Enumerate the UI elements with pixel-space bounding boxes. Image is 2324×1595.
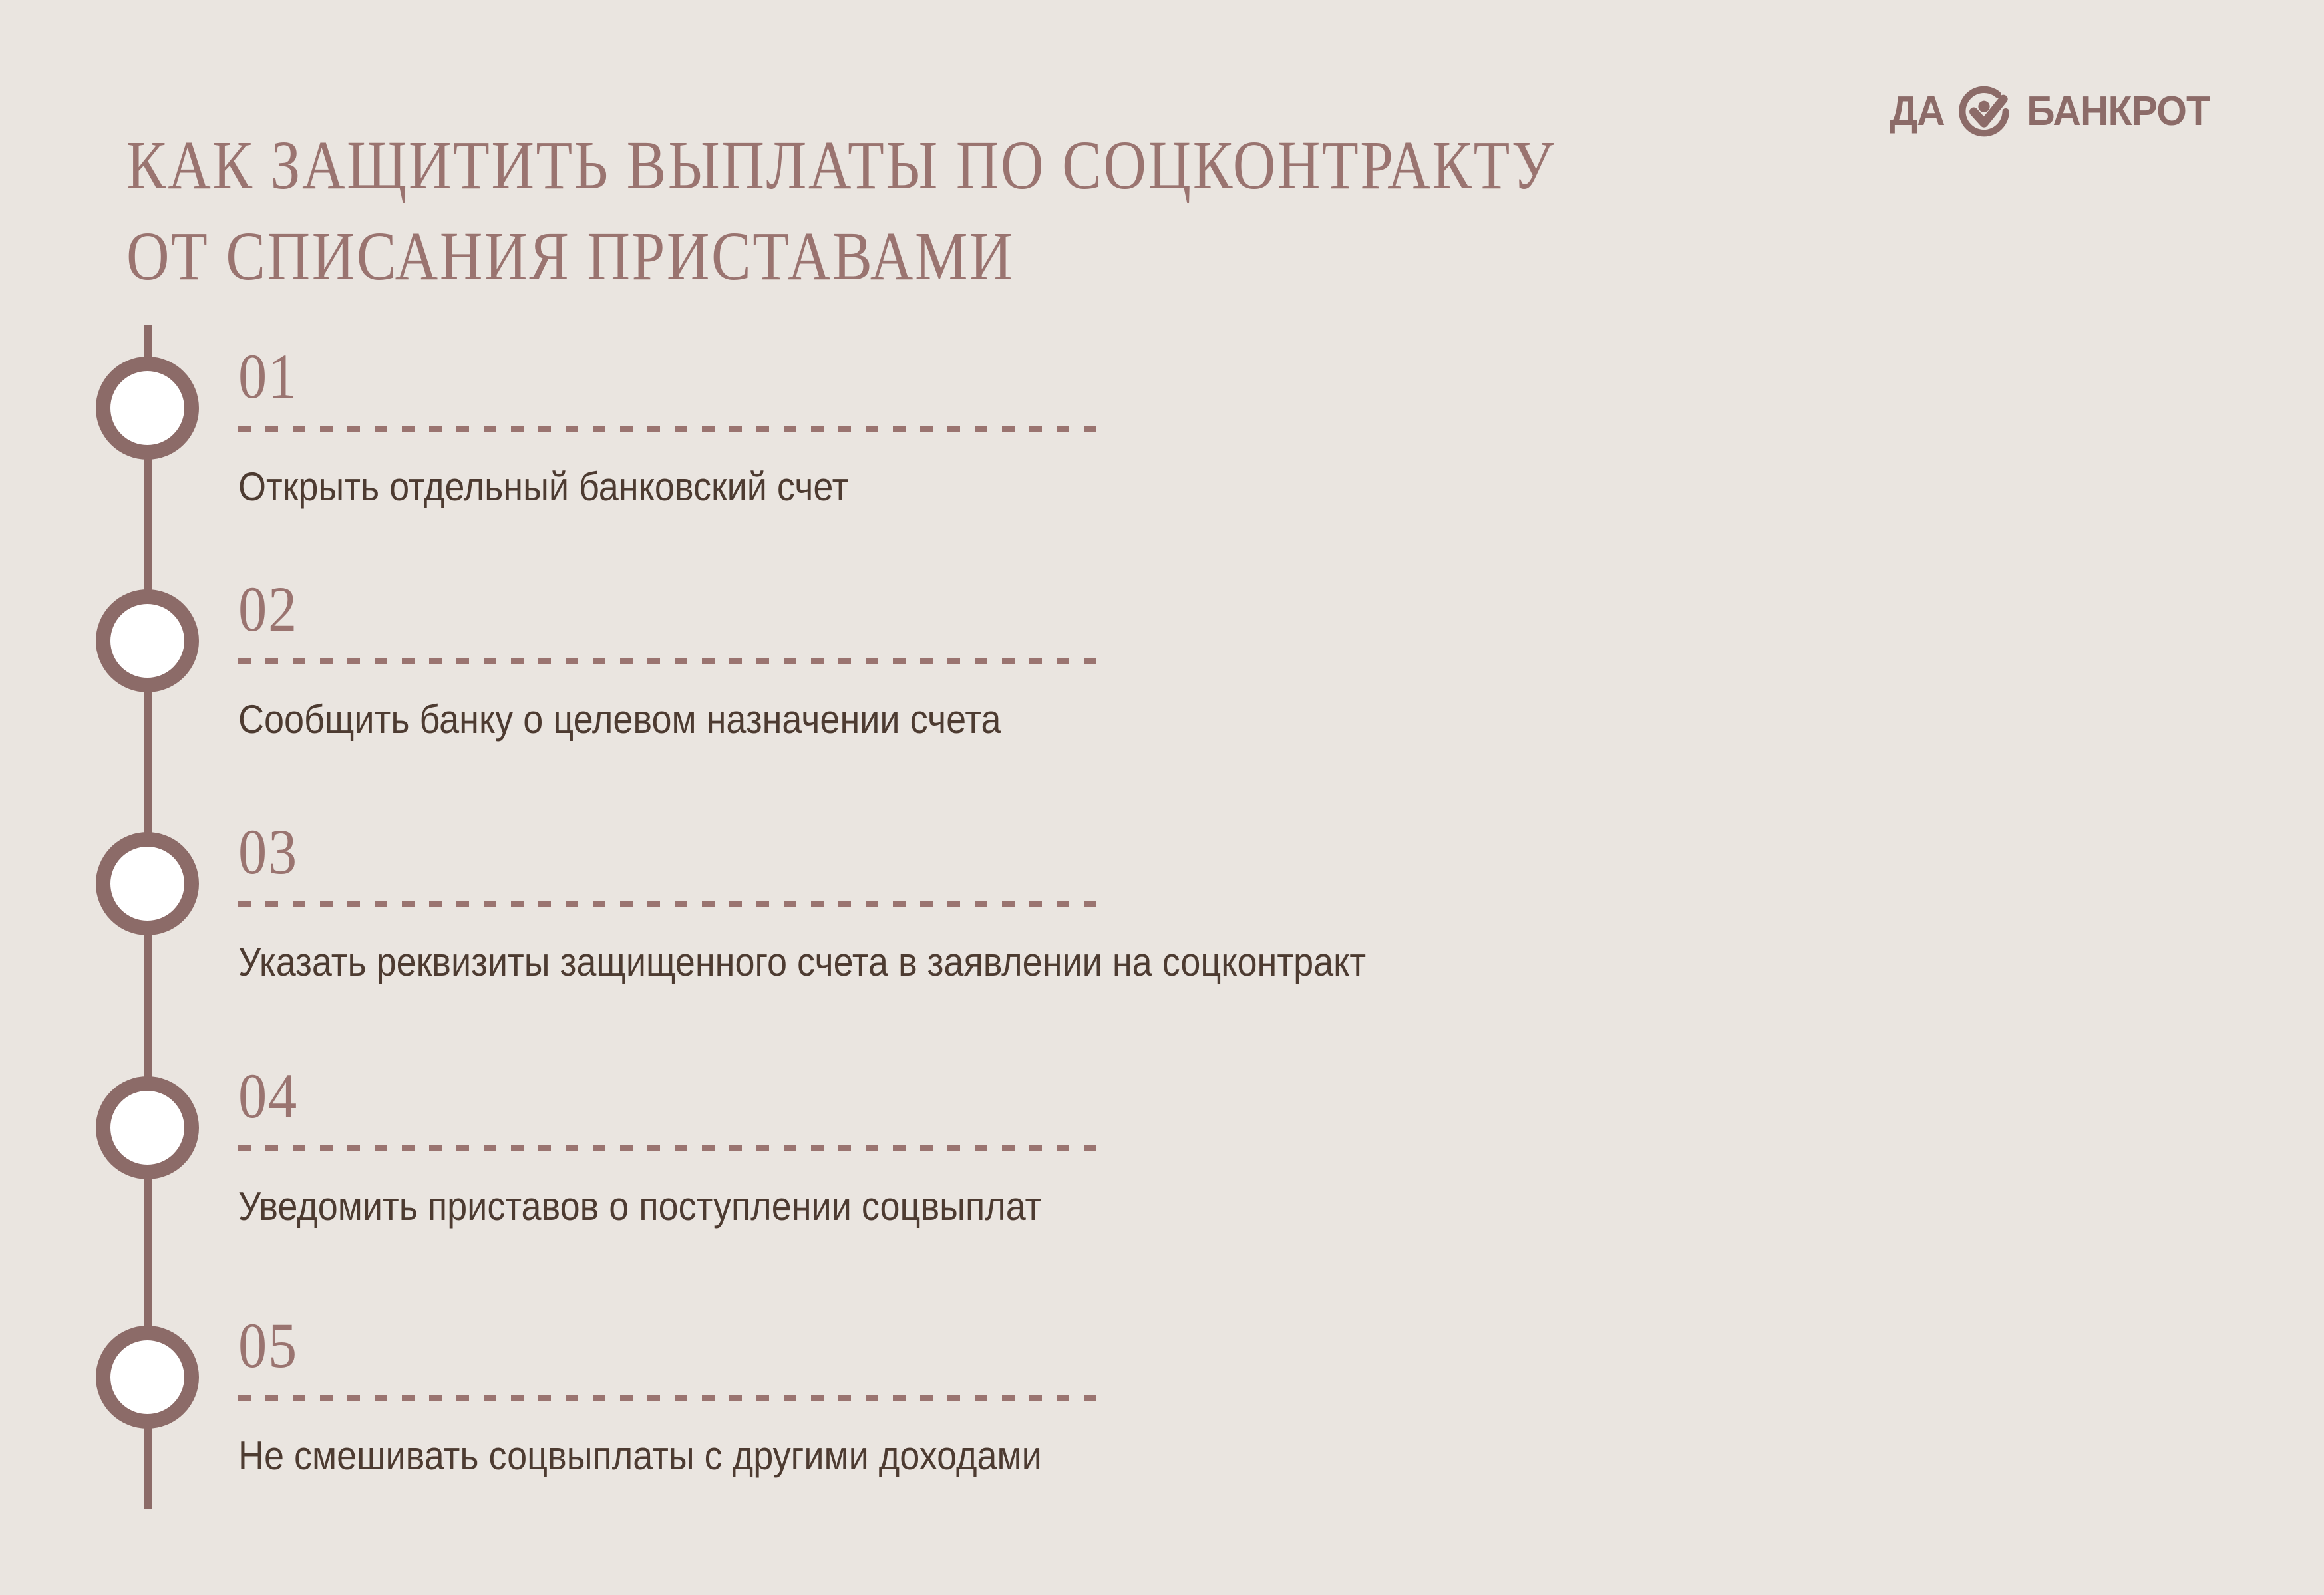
step-content: 01 Открыть отдельный банковский счет [238,345,2168,509]
steps-timeline: 01 Открыть отдельный банковский счет 02 … [0,0,2324,1595]
step-divider [238,901,1111,907]
step-marker-dot [96,832,199,935]
timeline-step: 02 Сообщить банку о целевом назначении с… [0,577,2324,810]
timeline-step: 04 Уведомить приставов о поступлении соц… [0,1064,2324,1297]
step-divider [238,1145,1111,1151]
step-text: Указать реквизиты защищенного счета в за… [238,939,1975,985]
step-marker-dot [96,1076,199,1179]
step-number: 05 [238,1314,1975,1380]
step-marker-dot [96,357,199,460]
step-marker-dot [96,1326,199,1429]
step-divider [238,658,1111,664]
step-divider [238,426,1111,432]
step-content: 03 Указать реквизиты защищенного счета в… [238,820,2168,985]
step-number: 04 [238,1064,1975,1131]
step-text: Уведомить приставов о поступлении соцвып… [238,1183,1975,1229]
step-content: 02 Сообщить банку о целевом назначении с… [238,577,2168,742]
step-number: 03 [238,820,1975,887]
step-marker-dot [96,589,199,692]
step-content: 05 Не смешивать соцвыплаты с другими дох… [238,1314,2168,1479]
timeline-step: 03 Указать реквизиты защищенного счета в… [0,820,2324,1053]
step-divider [238,1395,1111,1401]
step-text: Открыть отдельный банковский счет [238,464,1975,509]
step-number: 01 [238,345,1975,411]
timeline-step: 05 Не смешивать соцвыплаты с другими дох… [0,1314,2324,1546]
step-text: Сообщить банку о целевом назначении счет… [238,696,1975,742]
step-text: Не смешивать соцвыплаты с другими дохода… [238,1433,1975,1479]
step-content: 04 Уведомить приставов о поступлении соц… [238,1064,2168,1229]
step-number: 02 [238,577,1975,644]
timeline-step: 01 Открыть отдельный банковский счет [0,345,2324,577]
